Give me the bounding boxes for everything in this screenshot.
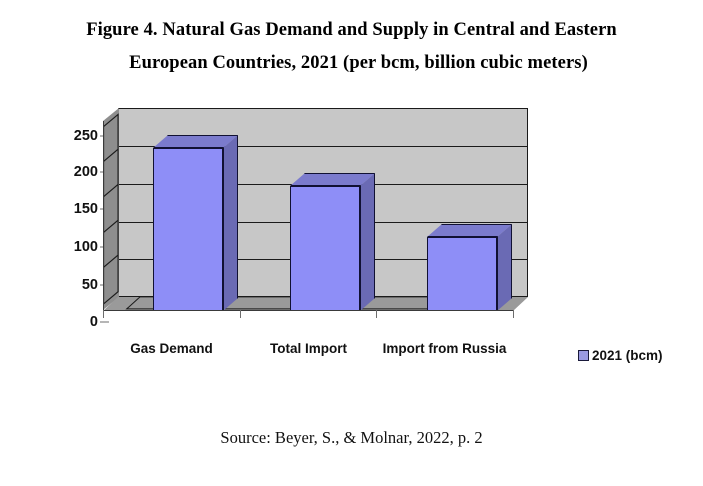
y-axis-line: [103, 121, 104, 311]
bar-total-import[interactable]: [290, 173, 360, 311]
y-axis-tick-labels: 250 200 150 100 50 0: [42, 108, 98, 338]
x-axis-category-labels: Gas Demand Total Import Import from Russ…: [103, 340, 543, 390]
plot-side-wall-edges: [103, 108, 119, 323]
y-tick-label-100: 100: [46, 239, 98, 255]
x-label-gas-demand: Gas Demand: [103, 340, 240, 357]
figure-title-line-2: European Countries, 2021 (per bcm, billi…: [0, 47, 703, 80]
y-tick-label-150: 150: [46, 201, 98, 217]
bar-chart: 250 200 150 100 50 0: [0, 108, 703, 398]
y-tick-label-200: 200: [46, 164, 98, 180]
y-tick-label-250: 250: [46, 128, 98, 144]
legend-entry-label: 2021 (bcm): [592, 348, 663, 363]
x-tick-mark-2: [376, 310, 377, 318]
x-tick-mark-1: [240, 310, 241, 318]
bar-side-face: [497, 224, 512, 311]
bar-import-from-russia[interactable]: [427, 224, 497, 311]
bar-front-face: [427, 237, 497, 311]
figure-container: Figure 4. Natural Gas Demand and Supply …: [0, 0, 703, 486]
bar-side-face: [360, 173, 375, 311]
y-tick-label-50: 50: [46, 277, 98, 293]
x-label-total-import: Total Import: [240, 340, 377, 357]
x-axis-line: [103, 310, 513, 311]
figure-source: Source: Beyer, S., & Molnar, 2022, p. 2: [0, 428, 703, 448]
figure-title-line-1: Figure 4. Natural Gas Demand and Supply …: [0, 14, 703, 47]
x-label-import-from-russia: Import from Russia: [376, 340, 513, 357]
bar-front-face: [290, 186, 360, 311]
y-tick-label-0: 0: [46, 314, 98, 330]
bar-front-face: [153, 148, 223, 311]
bar-side-face: [223, 135, 238, 311]
plot-area: [103, 108, 543, 338]
figure-title: Figure 4. Natural Gas Demand and Supply …: [0, 14, 703, 80]
bar-gas-demand[interactable]: [153, 135, 223, 311]
legend-swatch-icon: [578, 350, 589, 361]
x-tick-mark-0: [103, 310, 104, 318]
x-tick-mark-3: [513, 310, 514, 318]
chart-legend: 2021 (bcm): [578, 348, 663, 363]
